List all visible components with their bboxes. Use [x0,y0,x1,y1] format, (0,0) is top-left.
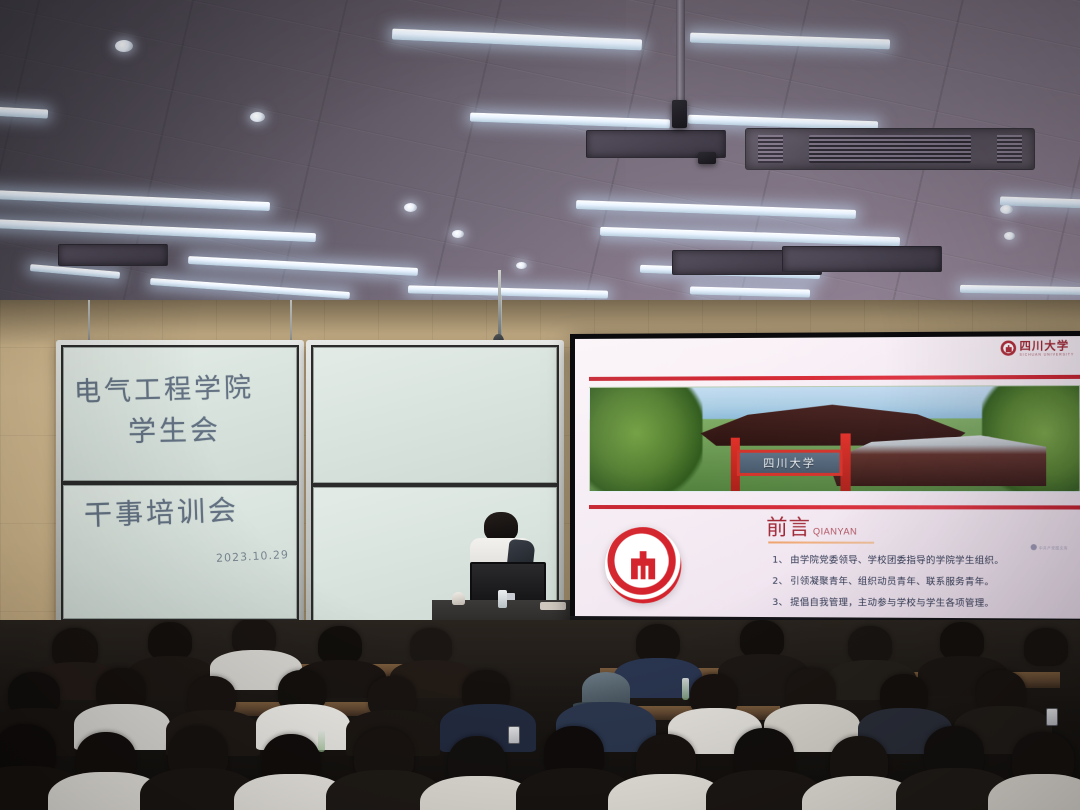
wall-mounted-tv: 四川大学 SICHUAN UNIVERSITY 四川大学 [570,331,1080,637]
logo-chinese-name: 四川大学 [1019,340,1074,352]
bullet-text-1: 由学院党委领导、学校团委指导的学院学生组织。 [790,555,1004,567]
hanging-microphone-cable [498,270,501,336]
slide-bullet-3: 3、提倡自我管理，主动参与学校与学生各项管理。 [772,594,1080,610]
recessed-downlight [115,40,133,52]
audience-head [148,622,192,660]
sichuan-university-logo: 四川大学 SICHUAN UNIVERSITY [1001,340,1074,357]
slide-top-rule [589,375,1080,381]
slide-title-chinese: 前言 [766,511,811,541]
campus-gate-photo: 四川大学 [589,385,1080,492]
watermark-icon [1031,544,1037,550]
whiteboard-line-2: 学生会 [128,408,222,450]
smartphone [1046,708,1058,726]
gate-plaque: 四川大学 [737,450,843,476]
audience-seating-area [0,620,1080,810]
ac-vent-louver [758,135,784,164]
desk-bottle [498,590,507,608]
audience-head [1024,628,1068,666]
ac-vent-grille [809,135,970,162]
audience-head [636,624,680,662]
whiteboard-date: 2023.10.29 [216,548,290,565]
whiteboard-line-1: 电气工程学院 [73,365,254,409]
whiteboard-left: 电气工程学院 学生会 干事培训会 2023.10.29 [56,340,304,626]
recessed-downlight [516,262,527,269]
recessed-downlight [404,203,417,212]
audience-head [848,626,892,664]
title-underline [768,541,874,543]
whiteboard-line-3: 干事培训会 [83,489,239,534]
whiteboard-panels: 电气工程学院 学生会 干事培训会 2023.10.29 [61,345,299,621]
recessed-downlight [1004,232,1015,240]
bullet-text-3: 提倡自我管理，主动参与学校与学生各项管理。 [790,597,994,609]
university-seal-icon [1001,341,1017,356]
gate-plaque-text: 四川大学 [763,455,816,471]
audience-head [318,626,362,664]
slide-mid-rule [589,505,1080,509]
audience-cap [582,672,630,706]
water-bottle [318,730,325,752]
university-seal-emblem [605,527,681,603]
desk-paper [540,602,566,610]
bullet-number-1: 1、 [772,555,788,566]
water-bottle [682,678,689,700]
ceiling-ac-vent [745,128,1035,170]
whiteboard-panel-top: 电气工程学院 学生会 [63,347,297,481]
recessed-downlight [452,230,464,238]
ac-vent-louver [997,135,1023,164]
tree-left [589,385,703,492]
lecture-hall-photo: 电气工程学院 学生会 干事培训会 2023.10.29 [0,0,1080,810]
desk-lamp [452,592,465,605]
bullet-number-3: 3、 [772,597,788,608]
slide-bullet-list: 1、由学院党委领导、学校团委指导的学院学生组织。 2、引领凝聚青年、组织动员青年… [772,552,1080,617]
whiteboard-hanger [88,300,90,342]
whiteboard-panel-bottom: 干事培训会 2023.10.29 [63,485,297,619]
projector-device [672,100,687,128]
seal-ring-text [605,527,681,603]
projector-mount-pole [676,0,685,108]
projector-device [698,152,716,164]
whiteboard-panel-top-right [313,347,557,483]
recessed-downlight [1000,205,1013,214]
logo-text: 四川大学 SICHUAN UNIVERSITY [1019,340,1074,356]
slide-watermark: 中共产党图文库 [1031,544,1068,550]
smartphone [508,726,520,744]
ceiling-ac-vent [782,246,942,272]
watermark-text: 中共产党图文库 [1039,545,1068,550]
audience-head [940,622,984,660]
bullet-text-2: 引领凝聚青年、组织动员青年、联系服务青年。 [790,576,994,588]
ceiling-ac-vent [58,244,168,266]
slide-title-pinyin: QIANYAN [813,526,857,536]
logo-english-name: SICHUAN UNIVERSITY [1019,353,1074,357]
audience-head [740,620,784,658]
ceiling [0,0,1080,340]
slide-bullet-1: 1、由学院党委领导、学校团委指导的学院学生组织。 [772,552,1080,567]
bullet-number-2: 2、 [772,576,788,587]
recessed-downlight [250,112,265,122]
tv-screen: 四川大学 SICHUAN UNIVERSITY 四川大学 [575,336,1080,624]
slide-bullet-2: 2、引领凝聚青年、组织动员青年、联系服务青年。 [772,573,1080,588]
presentation-slide: 四川大学 SICHUAN UNIVERSITY 四川大学 [575,336,1080,624]
whiteboard-hanger [290,300,292,342]
audience-head [410,628,452,664]
slide-title: 前言 QIANYAN [766,511,857,541]
